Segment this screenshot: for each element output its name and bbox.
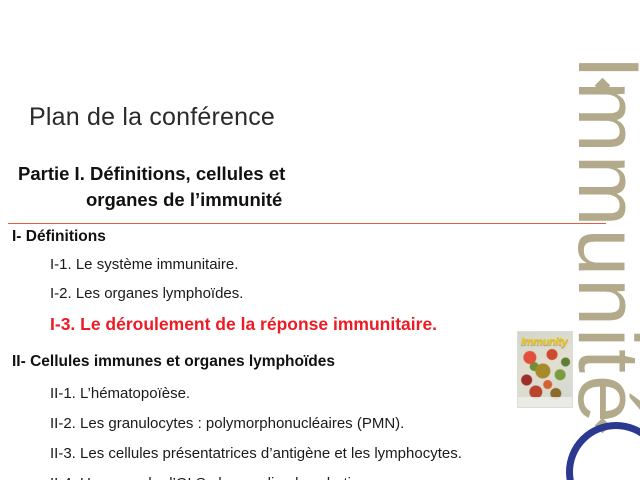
list-item: II-2. Les granulocytes : polymorphonuclé… [50,415,600,432]
presentation-slide: Immunité Plan de la conférence Partie I.… [0,0,640,480]
cover-title-text: Immunity [521,336,568,348]
immunity-journal-cover-thumbnail: Immunity [517,331,573,408]
section-title-ii: II- Cellules immunes et organes lymphoïd… [12,353,600,371]
part-heading-line-1: Partie I. Définitions, cellules et [18,163,285,184]
list-item: I-1. Le système immunitaire. [50,256,600,273]
diamond-icon-top [595,78,611,94]
section-title-i: I- Définitions [12,228,600,246]
horizontal-divider [8,223,606,224]
list-item: II-3. Les cellules présentatrices d’anti… [50,445,600,462]
list-item: II-4. Un exemple d’OLS : le ganglion lym… [50,475,600,480]
list-item: I-2. Les organes lymphoïdes. [50,285,600,302]
cover-bottom-band [518,397,572,407]
outline-list: I- Définitions I-1. Le système immunitai… [0,228,600,480]
part-heading-line-2: organes de l’immunité [18,187,358,213]
part-heading: Partie I. Définitions, cellules et organ… [18,161,358,214]
page-title: Plan de la conférence [29,103,275,132]
